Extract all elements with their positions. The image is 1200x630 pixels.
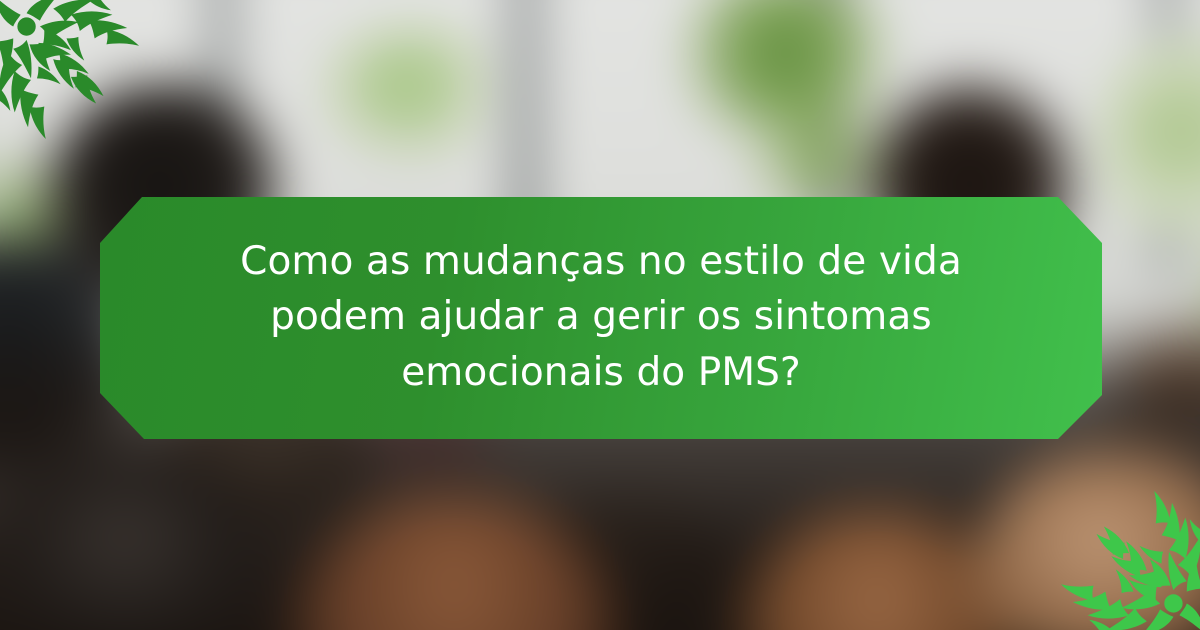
headline-banner: Como as mudanças no estilo de vida podem… — [100, 197, 1102, 439]
outdoor-foliage — [323, 30, 508, 150]
floral-acanthus-ornament-icon — [1058, 488, 1200, 630]
social-quote-card: Como as mudanças no estilo de vida podem… — [0, 0, 1200, 630]
floral-acanthus-ornament-icon — [0, 0, 142, 142]
page-title: Como as mudanças no estilo de vida podem… — [177, 234, 1025, 402]
